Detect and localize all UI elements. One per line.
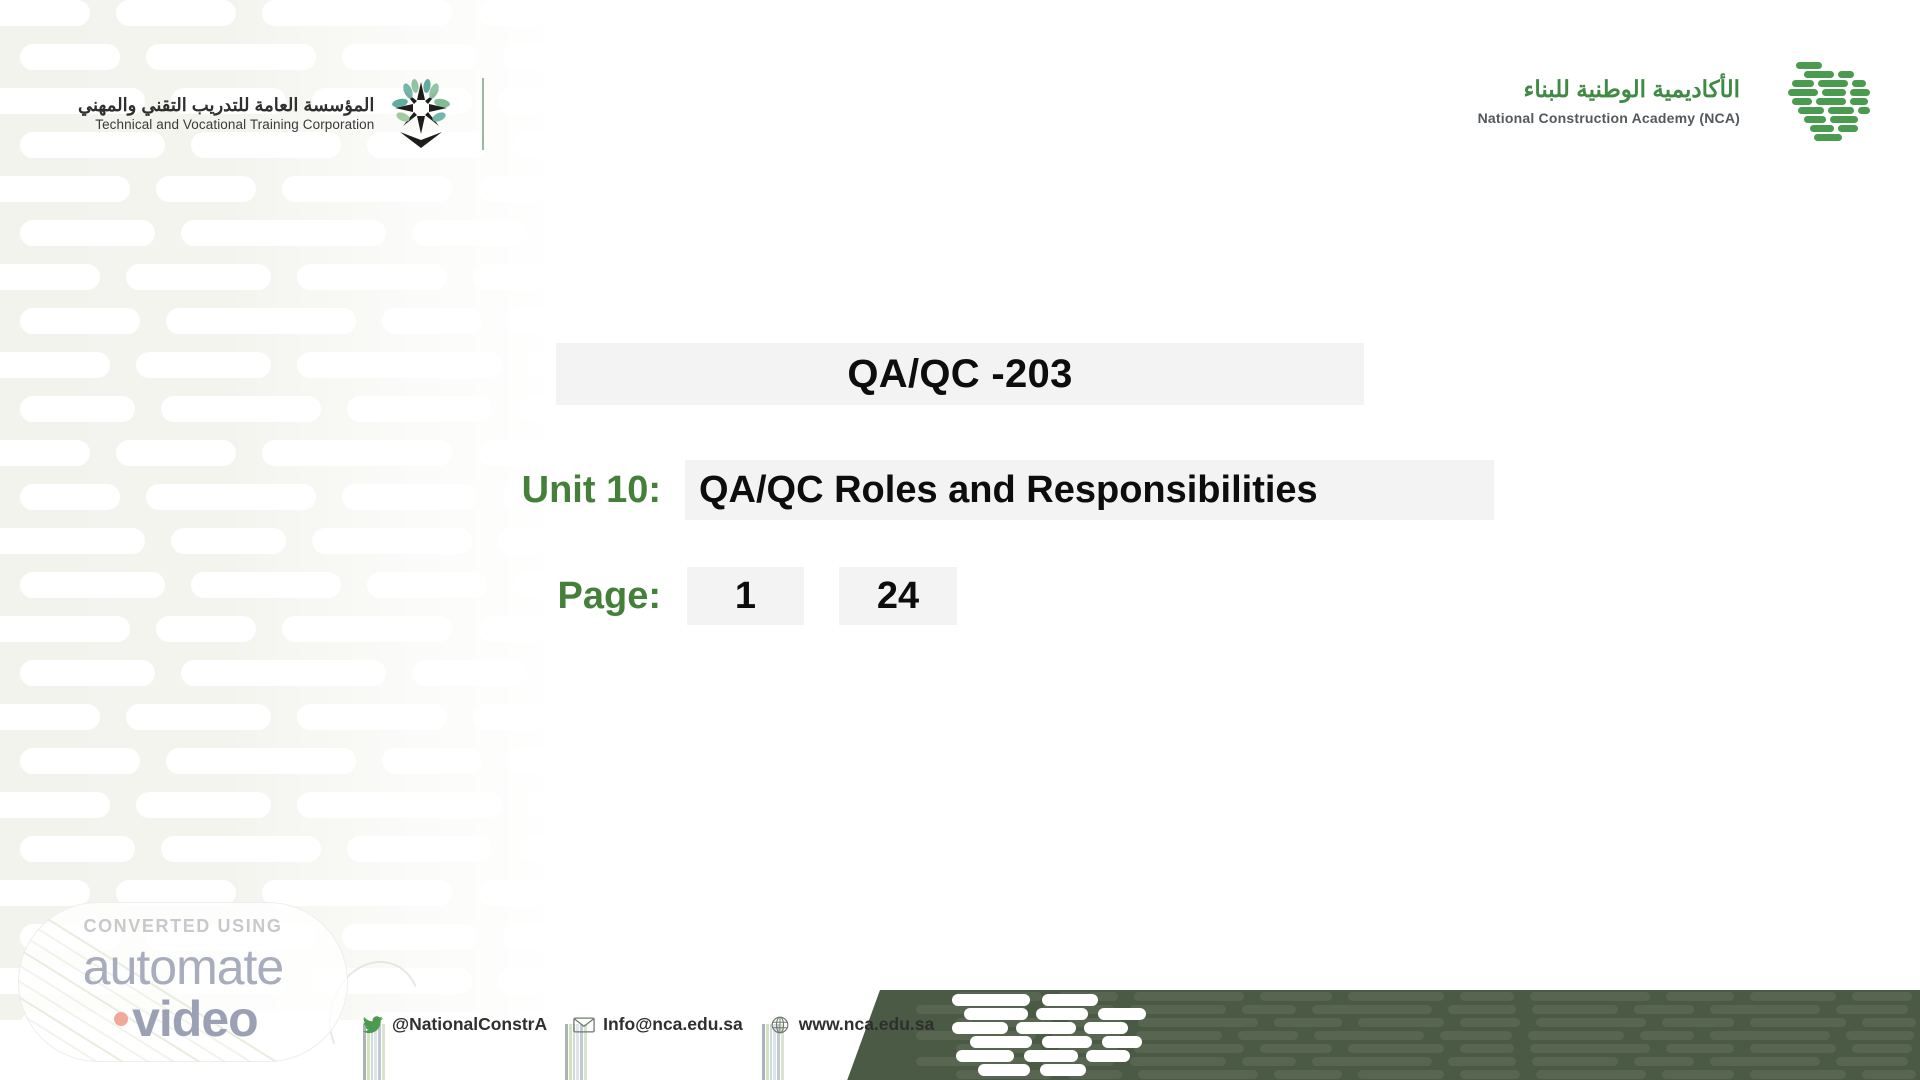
tvtc-wordmark: المؤسسة العامة للتدريب التقني والمهني Te… xyxy=(78,94,374,133)
nca-wordmark: الأكاديمية الوطنية للبناء National Const… xyxy=(1478,75,1740,127)
nca-english-name: National Construction Academy (NCA) xyxy=(1478,109,1740,127)
page-total-box: 24 xyxy=(839,567,957,625)
envelope-icon xyxy=(573,1016,595,1034)
page-label: Page: xyxy=(480,575,685,618)
contact-twitter-text: @NationalConstrA xyxy=(392,1014,547,1035)
course-code-text: QA/QC -203 xyxy=(847,352,1072,397)
contact-website[interactable]: www.nca.edu.sa xyxy=(769,1014,935,1035)
unit-label: Unit 10: xyxy=(480,469,685,512)
page-current-box: 1 xyxy=(687,567,804,625)
brick-pattern-base xyxy=(0,0,560,1020)
tvtc-logo: المؤسسة العامة للتدريب التقني والمهني Te… xyxy=(78,78,484,150)
watermark-automate-text: automate xyxy=(83,938,283,996)
footer-white-brick-accent xyxy=(952,994,1162,1080)
nca-arabic-name: الأكاديمية الوطنية للبناء xyxy=(1478,75,1740,105)
watermark-converted-text: CONVERTED USING xyxy=(83,916,282,937)
nca-logo: الأكاديمية الوطنية للبناء National Const… xyxy=(1478,60,1872,142)
unit-title-text: QA/QC Roles and Responsibilities xyxy=(699,469,1318,512)
tvtc-english-name: Technical and Vocational Training Corpor… xyxy=(78,117,374,134)
contact-twitter[interactable]: @NationalConstrA xyxy=(362,1014,547,1035)
course-code-box: QA/QC -203 xyxy=(556,343,1364,405)
contact-email-text: Info@nca.edu.sa xyxy=(603,1014,743,1035)
nca-brick-wall-icon xyxy=(1752,60,1872,142)
unit-title-box: QA/QC Roles and Responsibilities xyxy=(685,460,1494,520)
background-brick-pattern xyxy=(0,0,560,1020)
globe-icon xyxy=(769,1016,791,1034)
twitter-icon xyxy=(362,1016,384,1034)
unit-row: Unit 10: QA/QC Roles and Responsibilitie… xyxy=(480,460,1494,520)
contact-website-text: www.nca.edu.sa xyxy=(799,1014,935,1035)
tvtc-divider xyxy=(482,78,484,150)
tvtc-palm-emblem-icon xyxy=(392,78,450,150)
tvtc-arabic-name: المؤسسة العامة للتدريب التقني والمهني xyxy=(78,94,374,117)
page-row: Page: 1 24 xyxy=(480,567,957,625)
slide-root: المؤسسة العامة للتدريب التقني والمهني Te… xyxy=(0,0,1920,1080)
footer-contacts: @NationalConstrA Info@nca.edu.sa www.nca… xyxy=(362,1014,950,1035)
contact-email[interactable]: Info@nca.edu.sa xyxy=(573,1014,743,1035)
